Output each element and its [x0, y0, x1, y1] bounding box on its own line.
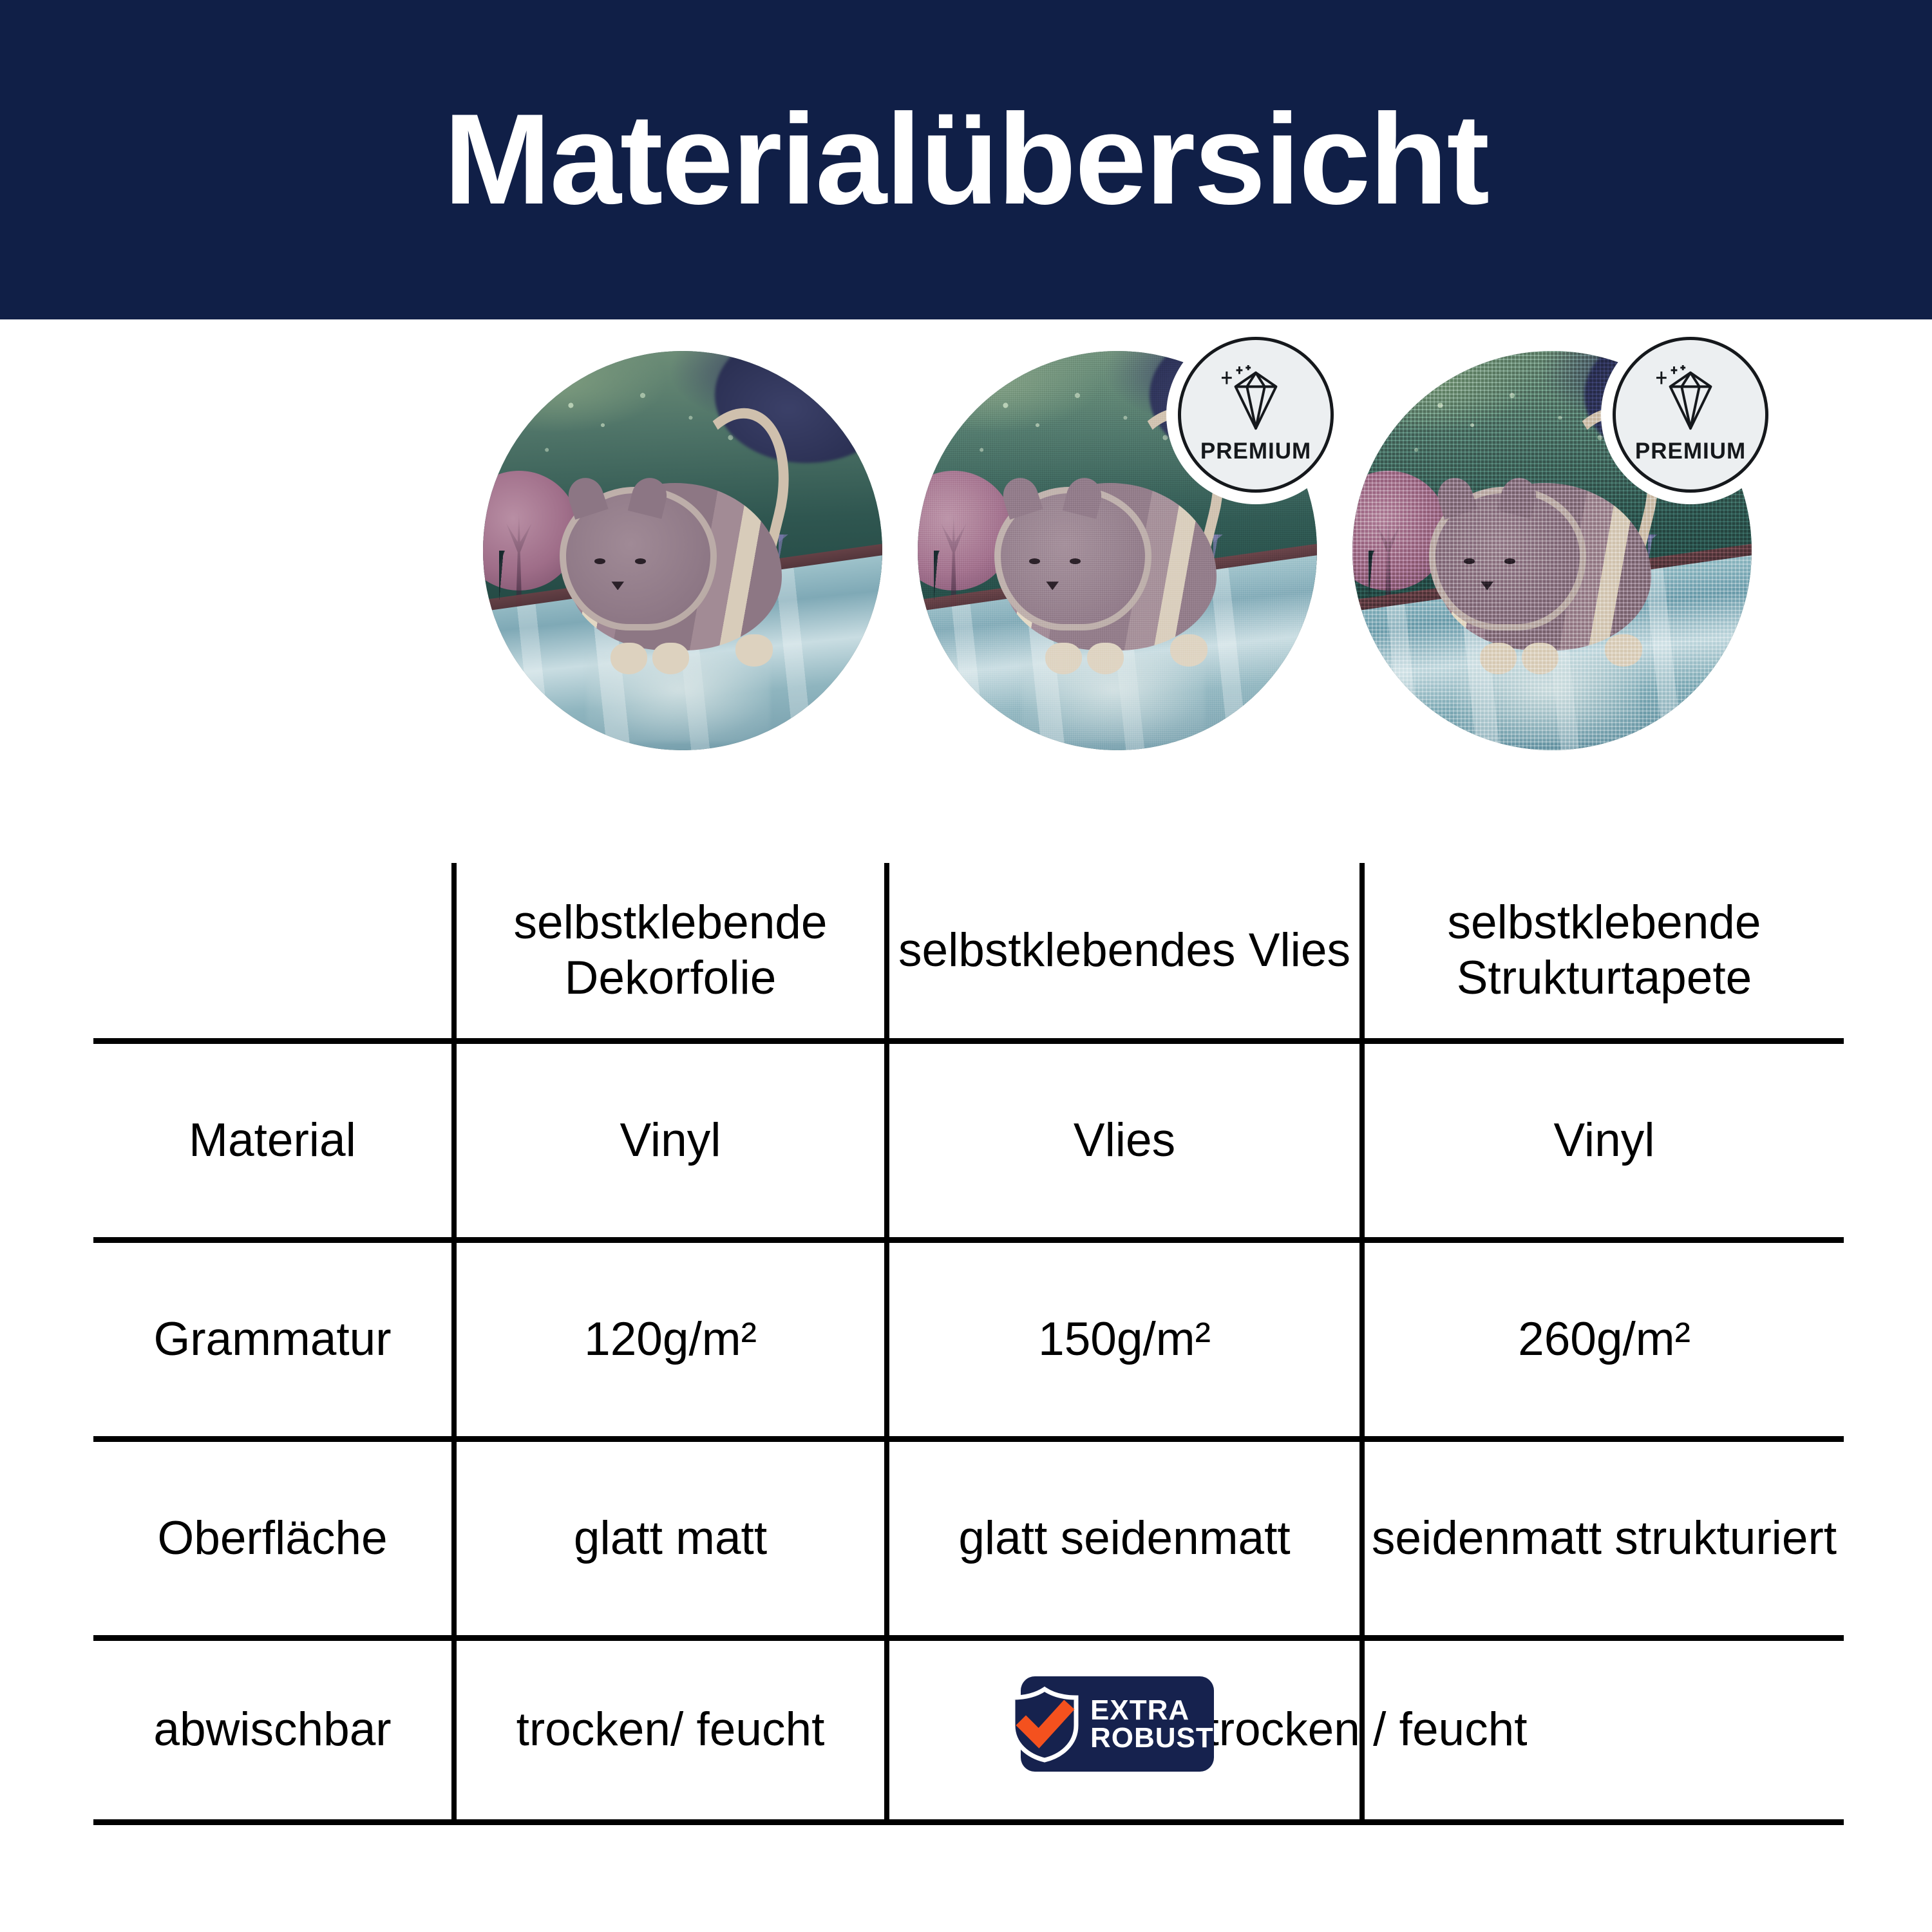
swatch-dekorfolie[interactable] — [483, 351, 882, 750]
table-header-dekorfolie: selbstklebende Dekorfolie — [457, 863, 884, 1038]
table-cell-material-strukturtapete: Vinyl — [1365, 1044, 1844, 1237]
table-cell-oberflaeche-vlies: glatt seidenmatt — [889, 1442, 1359, 1635]
diamond-icon — [1218, 365, 1294, 435]
cat-eye-right — [635, 558, 646, 564]
premium-badge: PREMIUM — [1613, 337, 1768, 493]
material-swatch-row: PREMIUM — [0, 335, 1932, 773]
table-cell-grammatur-strukturtapete: 260g/m² — [1365, 1243, 1844, 1436]
cat-nose — [611, 582, 624, 590]
table-cell-material-vlies: Vlies — [889, 1044, 1359, 1237]
swatch-vlies[interactable]: PREMIUM — [918, 351, 1317, 750]
table-cell-grammatur-dekorfolie: 120g/m² — [457, 1243, 884, 1436]
extra-robust-line-1: EXTRA — [1090, 1696, 1214, 1724]
cat-paw-2 — [652, 643, 690, 675]
table-divider-3 — [93, 1436, 1844, 1442]
table-cell-abwischbar-dekorfolie: trocken/ feucht — [457, 1641, 884, 1819]
table-cell-material-dekorfolie: Vinyl — [457, 1044, 884, 1237]
table-column-divider-1 — [451, 863, 457, 1819]
table-row-label-material: Material — [93, 1044, 451, 1237]
table-divider-2 — [93, 1237, 1844, 1243]
premium-badge-label: PREMIUM — [1635, 439, 1746, 464]
extra-robust-badge: EXTRA ROBUST — [1021, 1676, 1214, 1772]
table-divider-1 — [93, 1038, 1844, 1044]
table-divider-5 — [93, 1819, 1844, 1825]
cat-eye-left — [594, 558, 605, 564]
swatch-strukturtapete[interactable]: PREMIUM — [1352, 351, 1752, 750]
diamond-icon — [1653, 365, 1728, 435]
cat-ear-right — [628, 475, 670, 519]
extra-robust-label: EXTRA ROBUST — [1090, 1696, 1214, 1752]
table-row-label-oberflaeche: Oberfläche — [93, 1442, 451, 1635]
cat-paw-3 — [735, 634, 773, 667]
extra-robust-line-2: ROBUST — [1090, 1724, 1214, 1752]
table-row-label-abwischbar: abwischbar — [93, 1641, 451, 1819]
table-cell-oberflaeche-strukturtapete: seidenmatt strukturiert — [1365, 1442, 1844, 1635]
premium-badge: PREMIUM — [1178, 337, 1334, 493]
table-header-vlies: selbstklebendes Vlies — [889, 863, 1359, 1038]
swatch-image-dekorfolie — [483, 351, 882, 750]
table-header-strukturtapete: selbstklebende Strukturtapete — [1365, 863, 1844, 1038]
table-cell-oberflaeche-dekorfolie: glatt matt — [457, 1442, 884, 1635]
illustration-cat — [555, 459, 787, 658]
table-column-divider-2 — [884, 863, 889, 1819]
page-header: Materialübersicht — [0, 0, 1932, 319]
page-title: Materialübersicht — [444, 95, 1488, 224]
premium-badge-label: PREMIUM — [1200, 439, 1311, 464]
table-divider-4 — [93, 1635, 1844, 1641]
cat-head — [560, 487, 717, 630]
table-row-label-grammatur: Grammatur — [93, 1243, 451, 1436]
table-cell-grammatur-vlies: 150g/m² — [889, 1243, 1359, 1436]
cat-pond-illustration — [483, 351, 882, 750]
cat-ear-left — [564, 474, 609, 520]
material-comparison-table: selbstklebende Dekorfolie selbstklebende… — [93, 863, 1844, 1823]
shield-check-icon — [1007, 1685, 1083, 1763]
